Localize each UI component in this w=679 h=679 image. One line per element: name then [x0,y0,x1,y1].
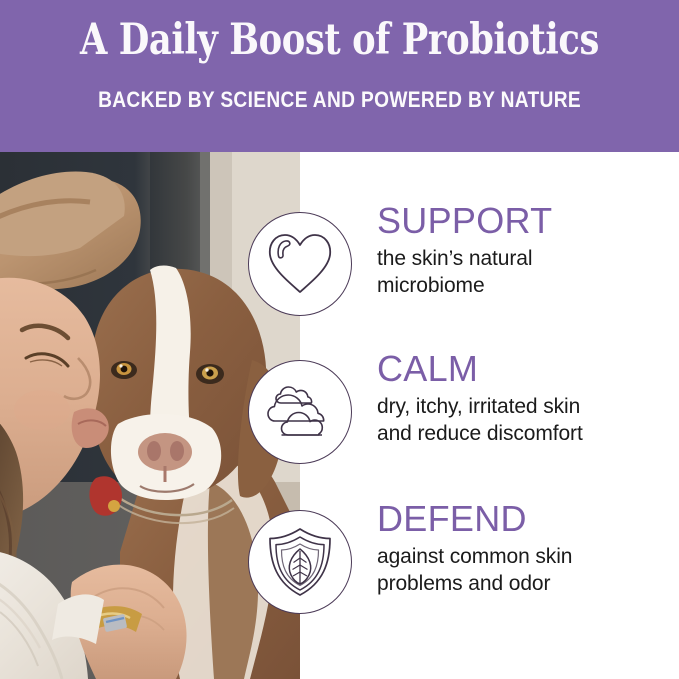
page-subtitle: BACKED BY SCIENCE AND POWERED BY NATURE [98,89,581,111]
feature-body: dry, itchy, irritated skin and reduce di… [377,394,679,448]
feature-body-line-2: problems and odor [377,571,679,598]
feature-body-line-2: microbiome [377,273,679,300]
feature-body-line-1: against common skin [377,544,679,571]
heart-icon [264,230,336,298]
clouds-icon [263,381,337,443]
shield-leaf-icon [265,525,335,599]
feature-item-support: SUPPORT the skin’s natural microbiome [248,202,679,316]
feature-body-line-2: and reduce discomfort [377,421,679,448]
header-banner: A Daily Boost of Probiotics BACKED BY SC… [0,0,679,152]
page-title: A Daily Boost of Probiotics [80,18,599,64]
clouds-icon-badge [248,360,352,464]
feature-text-support: SUPPORT the skin’s natural microbiome [352,202,679,300]
feature-heading: DEFEND [377,500,679,538]
feature-heading: CALM [377,350,679,388]
feature-body: the skin’s natural microbiome [377,246,679,300]
feature-body-line-1: the skin’s natural [377,246,679,273]
feature-heading: SUPPORT [377,202,679,240]
probiotics-product-infographic: A Daily Boost of Probiotics BACKED BY SC… [0,0,679,679]
feature-body-line-1: dry, itchy, irritated skin [377,394,679,421]
heart-icon-badge [248,212,352,316]
feature-text-calm: CALM dry, itchy, irritated skin and redu… [352,350,679,448]
shield-leaf-icon-badge [248,510,352,614]
feature-item-calm: CALM dry, itchy, irritated skin and redu… [248,350,679,464]
feature-text-defend: DEFEND against common skin problems and … [352,500,679,598]
feature-list: SUPPORT the skin’s natural microbiome [248,190,679,650]
feature-body: against common skin problems and odor [377,544,679,598]
feature-item-defend: DEFEND against common skin problems and … [248,500,679,614]
